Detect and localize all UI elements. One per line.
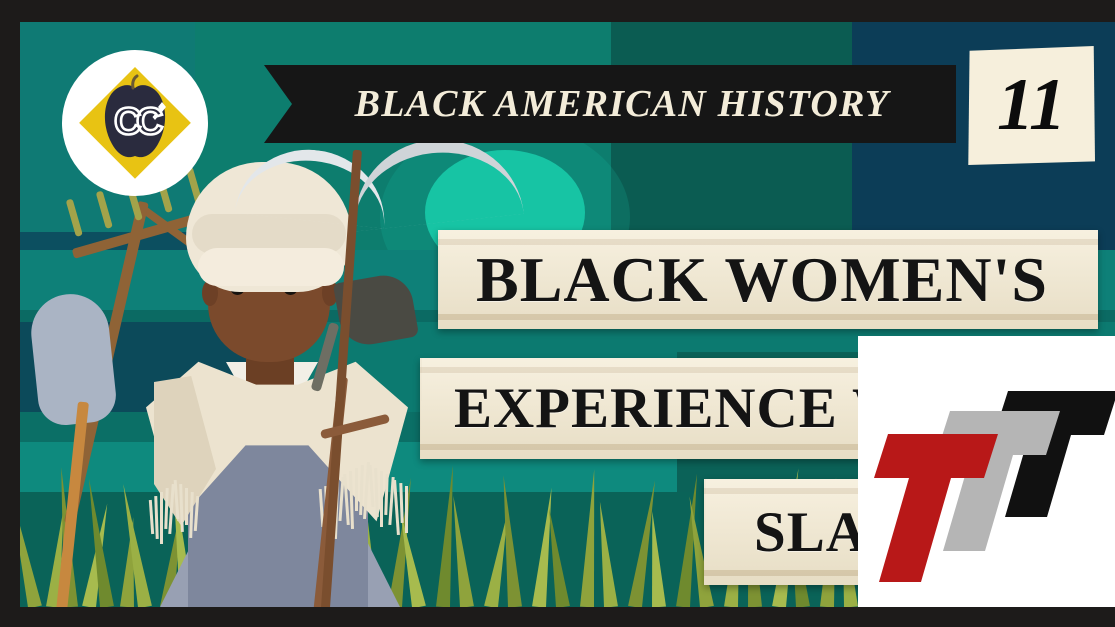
fringe-strand bbox=[355, 468, 358, 511]
woman-illustration bbox=[140, 162, 430, 607]
series-banner: BLACK AMERICAN HISTORY bbox=[264, 65, 956, 143]
ttt-logo-overlay bbox=[858, 336, 1115, 607]
letterbox-left bbox=[0, 0, 20, 627]
cc-apple-icon: C C bbox=[76, 64, 194, 182]
fringe-strand bbox=[149, 500, 154, 534]
letterbox-bottom bbox=[0, 607, 1115, 627]
head-wrap-fold bbox=[198, 248, 344, 286]
episode-number-text: 11 bbox=[967, 46, 1095, 165]
video-frame: BLACK WOMEN'S EXPERIENCE W SLA BLACK AME… bbox=[20, 22, 1115, 607]
fringe-strand bbox=[399, 483, 403, 523]
series-banner-text: BLACK AMERICAN HISTORY bbox=[264, 65, 956, 143]
fringe-strand bbox=[185, 488, 188, 525]
title-plank-line-1: BLACK WOMEN'S bbox=[438, 230, 1098, 329]
letterbox-top bbox=[0, 0, 1115, 22]
fringe-strand bbox=[384, 474, 388, 515]
grass-blade bbox=[645, 511, 666, 607]
crash-course-logo: C C bbox=[62, 50, 208, 196]
video-thumbnail: BLACK WOMEN'S EXPERIENCE W SLA BLACK AME… bbox=[0, 0, 1115, 627]
grass-blade bbox=[20, 488, 42, 607]
fringe-strand bbox=[160, 492, 163, 544]
ttt-logo-icon bbox=[858, 336, 1115, 607]
fringe-strand bbox=[154, 496, 158, 539]
episode-number-box: 11 bbox=[967, 46, 1095, 165]
fringe-strand bbox=[380, 471, 383, 527]
fringe-strand bbox=[405, 486, 408, 533]
title-line-1-text: BLACK WOMEN'S bbox=[438, 230, 1098, 329]
